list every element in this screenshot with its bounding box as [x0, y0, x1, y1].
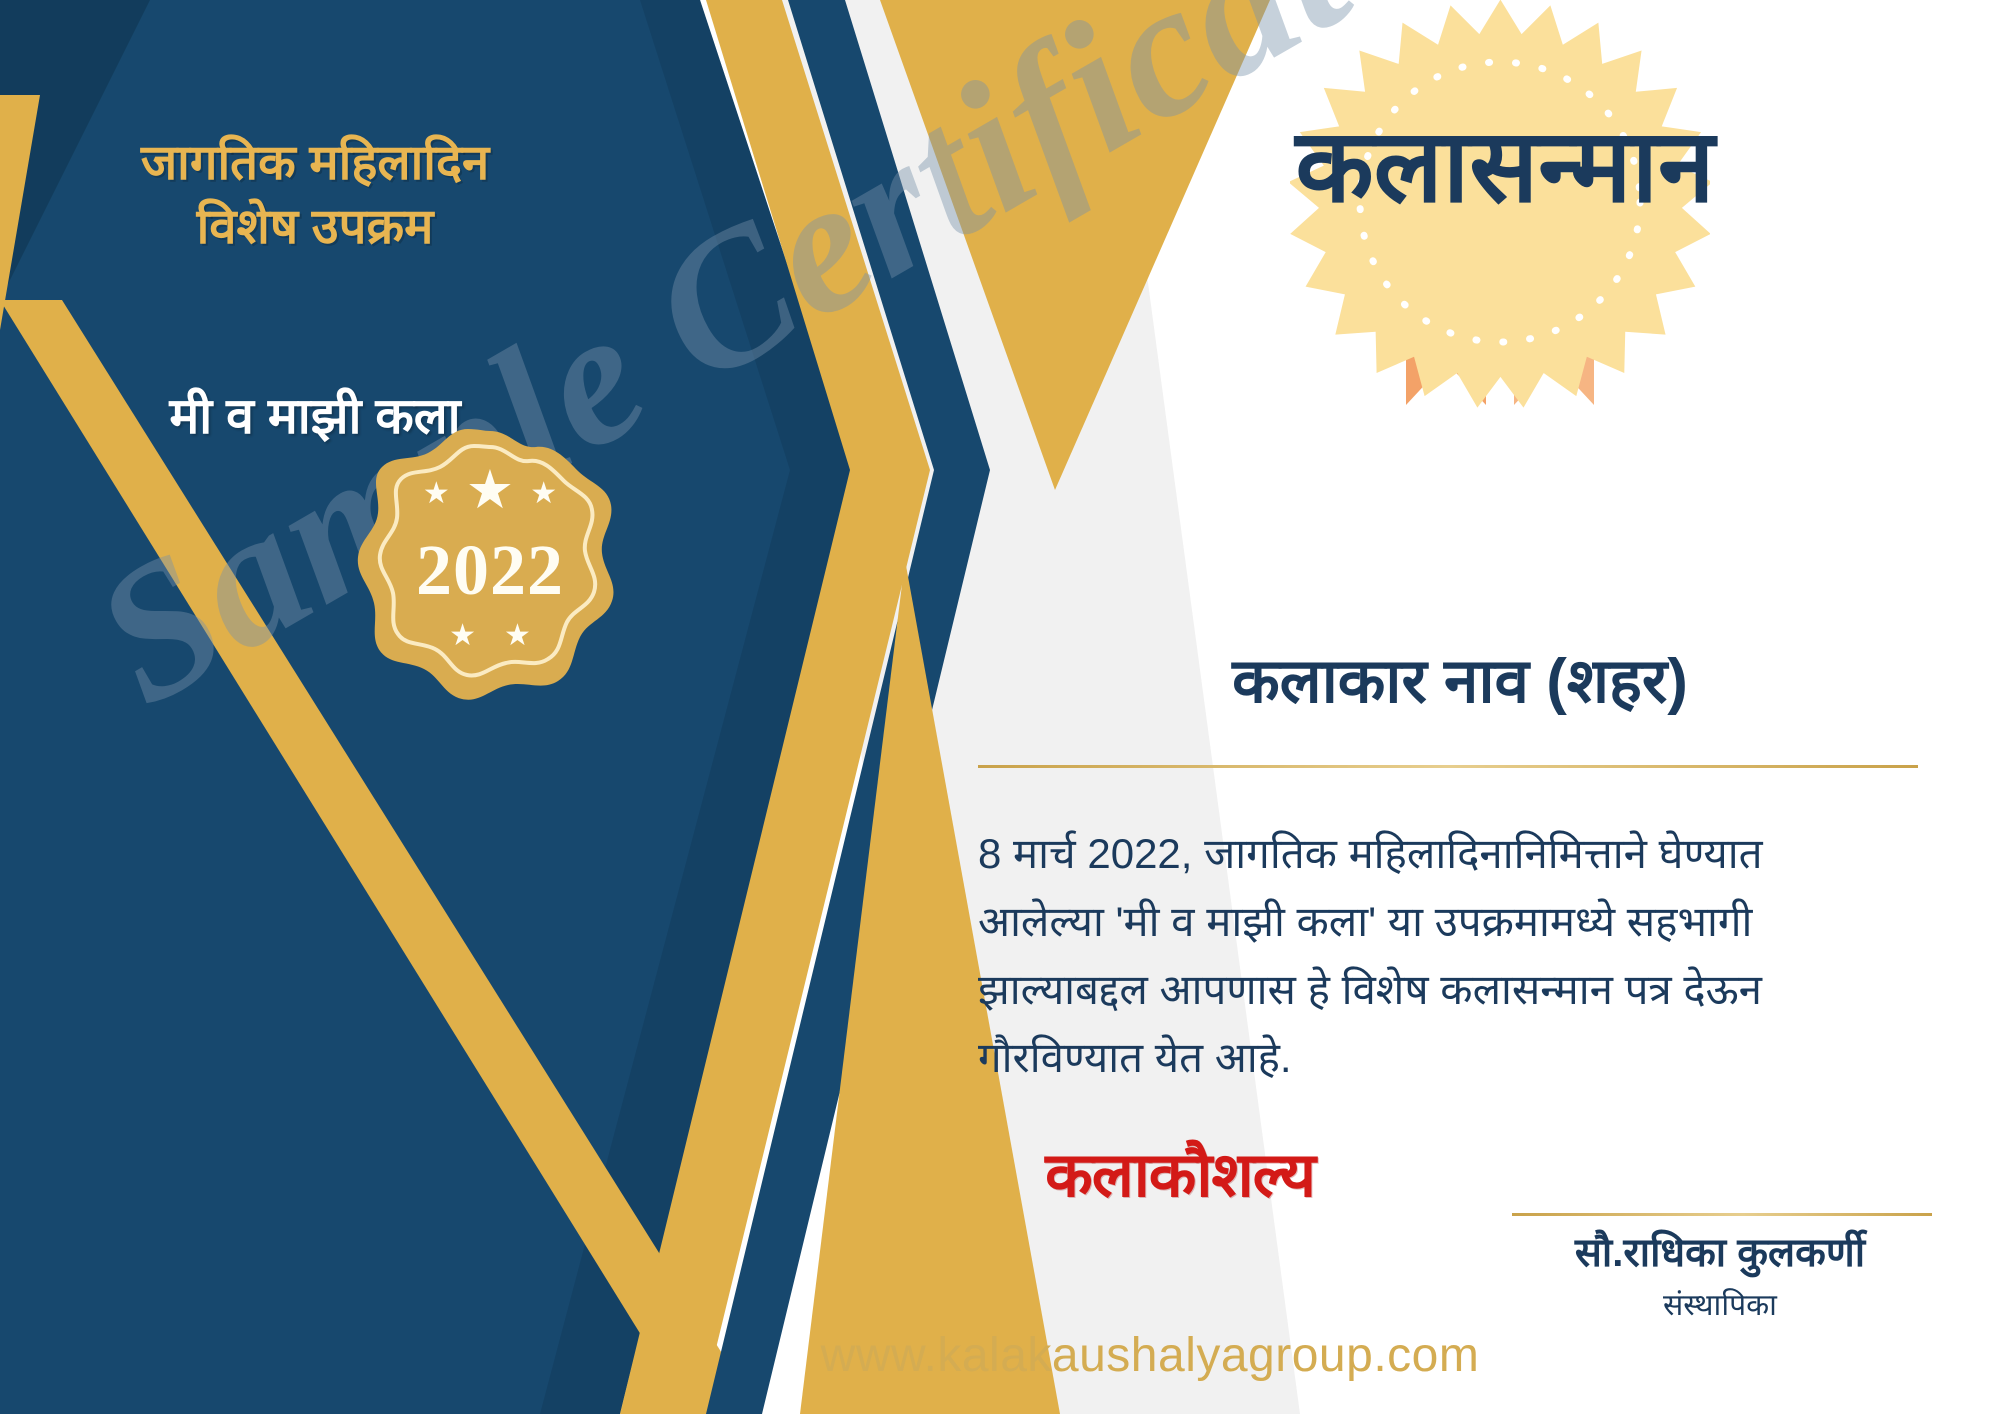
body-line-3: झाल्याबद्दल आपणास हे विशेष कलासन्मान पत्… — [978, 956, 1928, 1024]
event-heading: जागतिक महिलादिन विशेष उपक्रम — [0, 132, 630, 259]
seal-stars-bottom-row: ★ ★ — [350, 621, 630, 651]
organization-logo: कलाकौशल्य — [990, 1145, 1370, 1207]
certificate-body-text: 8 मार्च 2022, जागतिक महिलादिनानिमित्ताने… — [978, 820, 1928, 1092]
certificate-title: कलासन्मान — [1010, 110, 2000, 222]
year-seal-badge: ★ ★ ★ 2022 ★ ★ — [350, 425, 630, 705]
recipient-name-divider — [978, 765, 1918, 768]
star-icon-small-right: ★ — [530, 479, 557, 509]
event-heading-line-1: जागतिक महिलादिन — [0, 132, 630, 196]
body-line-1: 8 मार्च 2022, जागतिक महिलादिनानिमित्ताने… — [978, 820, 1928, 888]
certificate-canvas: Sample Certificate जागतिक महिलादिन विशेष… — [0, 0, 2000, 1414]
star-icon-small-left: ★ — [423, 479, 450, 509]
seal-stars-top-row: ★ ★ ★ — [350, 471, 630, 517]
star-icon-small-bottom-right: ★ — [504, 621, 531, 651]
event-heading-line-2: विशेष उपक्रम — [0, 196, 630, 260]
signatory-role: संस्थापिका — [1480, 1288, 1960, 1324]
body-line-2: आलेल्या 'मी व माझी कला' या उपक्रमामध्ये … — [978, 888, 1928, 956]
recipient-name-placeholder: कलाकार नाव (शहर) — [980, 645, 1940, 719]
signature-divider — [1512, 1213, 1932, 1216]
star-icon-small-bottom-left: ★ — [449, 621, 476, 651]
signatory-name: सौ.राधिका कुलकर्णी — [1480, 1228, 1960, 1278]
body-line-4: गौरविण्यात येत आहे. — [978, 1024, 1928, 1092]
seal-year-label: 2022 — [350, 529, 630, 612]
star-icon-large-center: ★ — [466, 463, 514, 517]
website-url: www.kalakaushalyagroup.com — [500, 1330, 1800, 1383]
